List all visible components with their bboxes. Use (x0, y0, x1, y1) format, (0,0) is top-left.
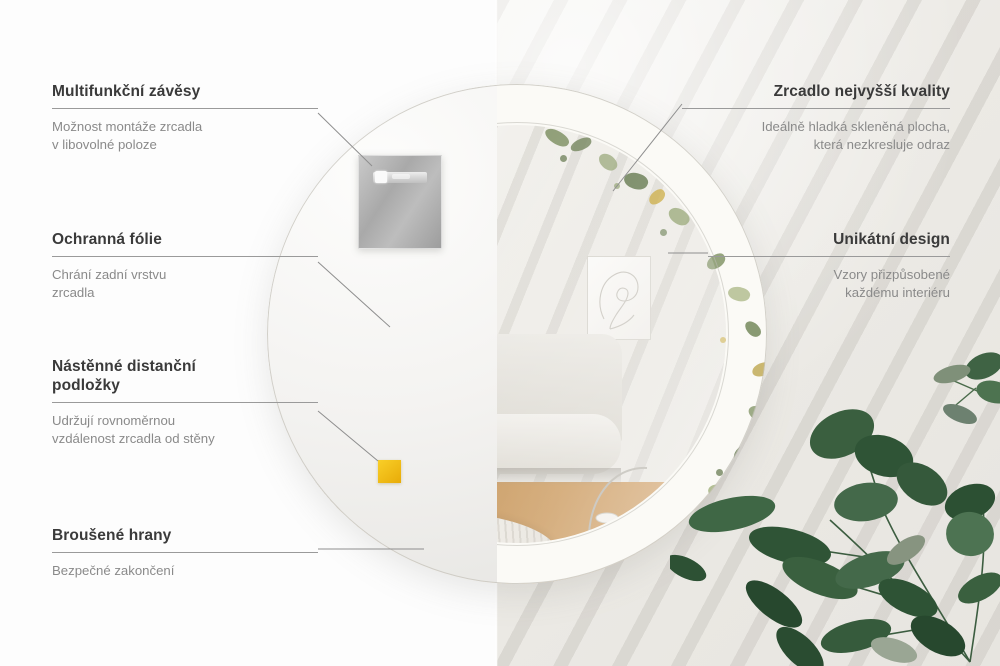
callout-title: Ochranná fólie (52, 230, 318, 249)
callout-description: Chrání zadní vrstvu zrcadla (52, 266, 318, 302)
hanger-hole (375, 171, 387, 183)
callout-rule (708, 256, 950, 257)
spacer-pad (378, 460, 401, 483)
callout-title: Zrcadlo nejvyšší kvality (682, 82, 950, 101)
foliage-foreground (670, 306, 1000, 666)
hanger-plate (358, 155, 442, 249)
callout-title: Broušené hrany (52, 526, 318, 545)
callout-description: Udržují rovnoměrnou vzdálenost zrcadla o… (52, 412, 318, 448)
callout-rule (52, 108, 318, 109)
callout-rule (52, 402, 318, 403)
callout-title: Nástěnné distanční podložky (52, 357, 318, 395)
callout-multifunkcni-zavesy: Multifunkční závěsy Možnost montáže zrca… (52, 82, 318, 154)
callout-rule (52, 256, 318, 257)
callout-title: Unikátní design (708, 230, 950, 249)
callout-unikatni-design: Unikátní design Vzory přizpůsobené každé… (708, 230, 950, 302)
callout-description: Bezpečné zakončení (52, 562, 318, 580)
hanger-slot (392, 174, 410, 179)
callout-rule (682, 108, 950, 109)
callout-rule (52, 552, 318, 553)
callout-ochranna-folie: Ochranná fólie Chrání zadní vrstvu zrcad… (52, 230, 318, 302)
infographic-canvas: Multifunkční závěsy Možnost montáže zrca… (0, 0, 1000, 666)
callout-brousene-hrany: Broušené hrany Bezpečné zakončení (52, 526, 318, 580)
callout-title: Multifunkční závěsy (52, 82, 318, 101)
callout-description: Vzory přizpůsobené každému interiéru (708, 266, 950, 302)
callout-description: Ideálně hladká skleněná plocha, která ne… (682, 118, 950, 154)
callout-nastenne-distancni-podlozky: Nástěnné distanční podložky Udržují rovn… (52, 357, 318, 448)
leaf-branch-icon (670, 306, 1000, 666)
callout-description: Možnost montáže zrcadla v libovolné polo… (52, 118, 318, 154)
callout-zrcadlo-nejvyssi-kvality: Zrcadlo nejvyšší kvality Ideálně hladká … (682, 82, 950, 154)
